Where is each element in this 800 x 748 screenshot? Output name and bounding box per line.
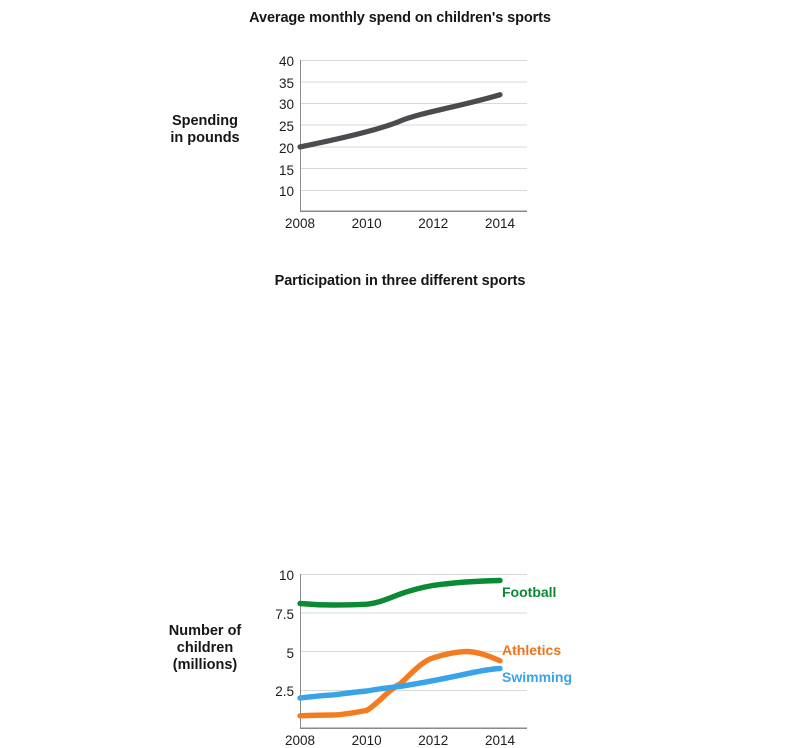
participation-chart-figure: Participation in three different sports … <box>0 255 800 500</box>
spending-ytick-25: 25 <box>252 119 294 134</box>
participation-ytick-2.5: 2.5 <box>252 684 294 699</box>
participation-ytick-10: 10 <box>252 568 294 583</box>
participation-xtick-2014: 2014 <box>470 733 530 748</box>
legend-item-athletics: Athletics <box>502 642 561 658</box>
spending-plot-area <box>300 60 527 212</box>
spending-ytick-15: 15 <box>252 163 294 178</box>
spending-xtick-2010: 2010 <box>337 216 397 231</box>
participation-xtick-2008: 2008 <box>270 733 330 748</box>
chart-page: Average monthly spend on children's spor… <box>0 0 800 500</box>
football-data-line <box>300 581 500 606</box>
participation-chart-title: Participation in three different sports <box>0 273 800 289</box>
spending-ytick-20: 20 <box>252 141 294 156</box>
participation-line-chart-svg <box>300 574 527 729</box>
spending-xtick-2014: 2014 <box>470 216 530 231</box>
participation-ytick-7.5: 7.5 <box>252 607 294 622</box>
spending-chart-figure: Average monthly spend on children's spor… <box>0 0 800 250</box>
athletics-data-line <box>300 652 500 716</box>
spending-xtick-2012: 2012 <box>403 216 463 231</box>
spending-gridlines <box>300 61 527 191</box>
spending-ytick-40: 40 <box>252 54 294 69</box>
participation-plot-area <box>300 574 527 729</box>
spending-data-line <box>300 95 500 147</box>
spending-chart-title: Average monthly spend on children's spor… <box>0 10 800 26</box>
spending-ytick-30: 30 <box>252 97 294 112</box>
spending-xtick-2008: 2008 <box>270 216 330 231</box>
participation-xtick-2010: 2010 <box>337 733 397 748</box>
legend-item-swimming: Swimming <box>502 669 572 685</box>
participation-ytick-5: 5 <box>252 646 294 661</box>
spending-ytick-35: 35 <box>252 76 294 91</box>
participation-xtick-2012: 2012 <box>403 733 463 748</box>
spending-line-chart-svg <box>300 60 527 212</box>
spending-ytick-10: 10 <box>252 184 294 199</box>
legend-item-football: Football <box>502 584 556 600</box>
